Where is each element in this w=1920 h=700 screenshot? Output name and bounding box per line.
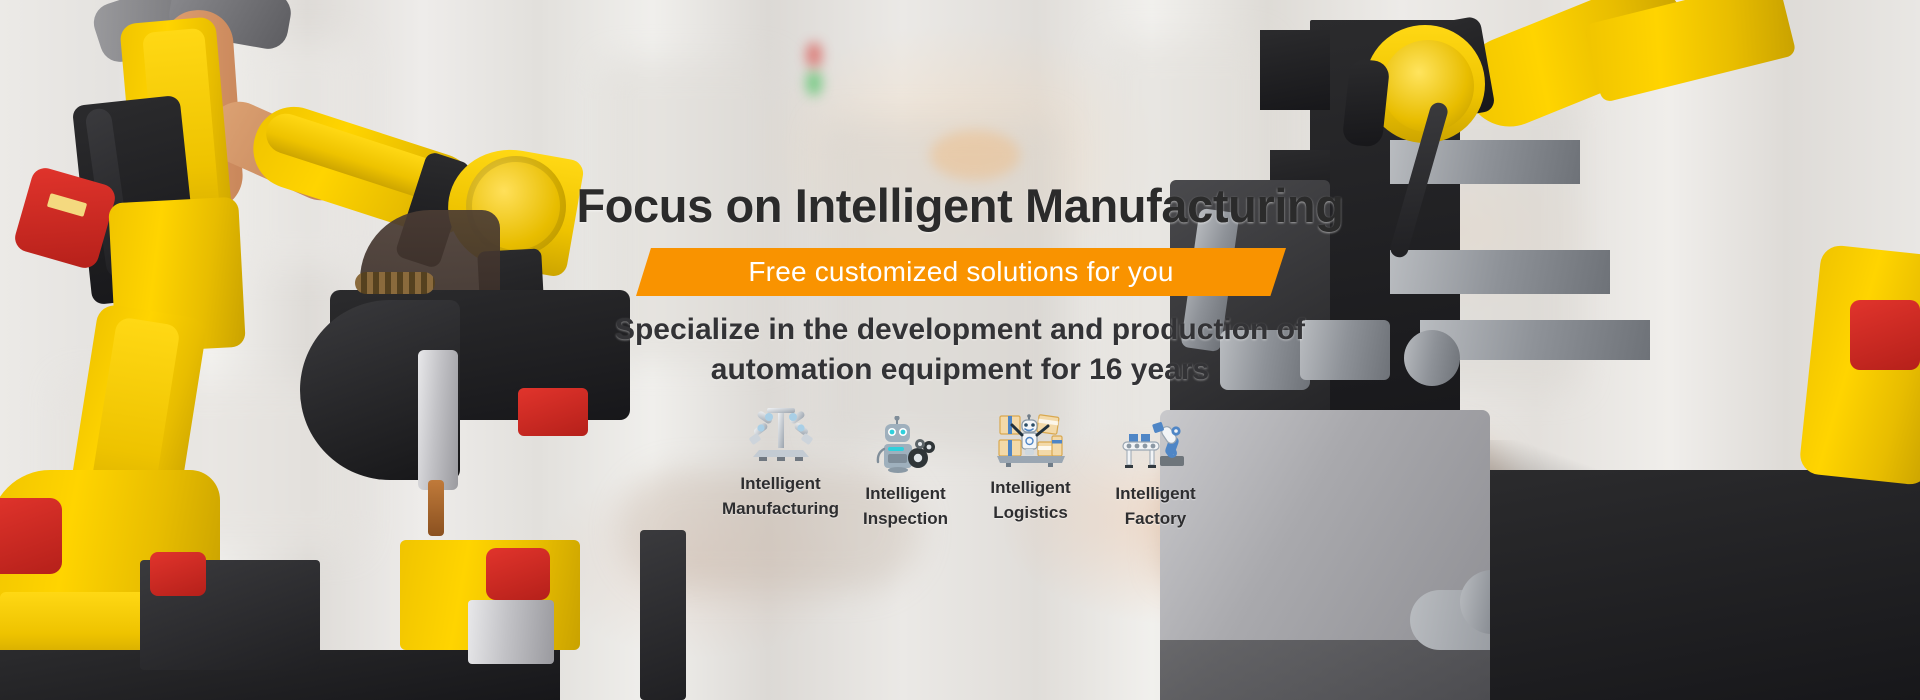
left-robot-arm — [0, 0, 720, 700]
far-right-motor-cap — [1850, 300, 1920, 370]
feature-label: Intelligent Manufacturing — [722, 472, 839, 521]
feature-label: Intelligent Factory — [1115, 482, 1195, 531]
bg-lamp-glow — [930, 130, 1020, 180]
right-robot-cell — [1160, 0, 1920, 700]
bg-stack-light-green — [806, 70, 822, 96]
feature-item-intelligent-logistics[interactable]: Intelligent Logistics — [968, 400, 1093, 525]
inspection-robot-gear-icon — [870, 412, 942, 474]
feature-list: Intelligent Manufacturing — [718, 400, 1218, 531]
machine-step — [1260, 30, 1330, 110]
feature-label: Intelligent Logistics — [990, 476, 1070, 525]
feature-item-intelligent-manufacturing[interactable]: Intelligent Manufacturing — [718, 400, 843, 521]
welding-actuator — [418, 350, 458, 490]
conveyor-robot-arm-icon — [1120, 412, 1192, 474]
gun-red-cap — [518, 388, 588, 436]
feature-item-intelligent-factory[interactable]: Intelligent Factory — [1093, 400, 1218, 531]
fixture-jaw — [1300, 320, 1390, 380]
bg-stack-light-red — [806, 42, 822, 68]
carrier-post — [640, 530, 686, 700]
fixture-roller — [1404, 330, 1460, 386]
welding-cable-coil — [355, 272, 435, 294]
feature-item-intelligent-inspection[interactable]: Intelligent Inspection — [843, 400, 968, 531]
lower-carrier-clamp — [486, 548, 550, 600]
machine-shelf — [1390, 250, 1610, 294]
lower-carrier-box — [468, 600, 554, 664]
machine-right-panel — [1490, 470, 1920, 700]
hero-banner: Focus on Intelligent Manufacturing Free … — [0, 0, 1920, 700]
fixture-clamp — [150, 552, 206, 596]
feature-label: Intelligent Inspection — [863, 482, 948, 531]
fixture-clamp-head — [1220, 330, 1310, 390]
robot-base-motor-cap — [0, 498, 62, 574]
dual-robot-arm-icon — [745, 400, 817, 462]
welding-electrode — [428, 480, 444, 536]
logistics-robot-boxes-icon — [995, 406, 1067, 468]
